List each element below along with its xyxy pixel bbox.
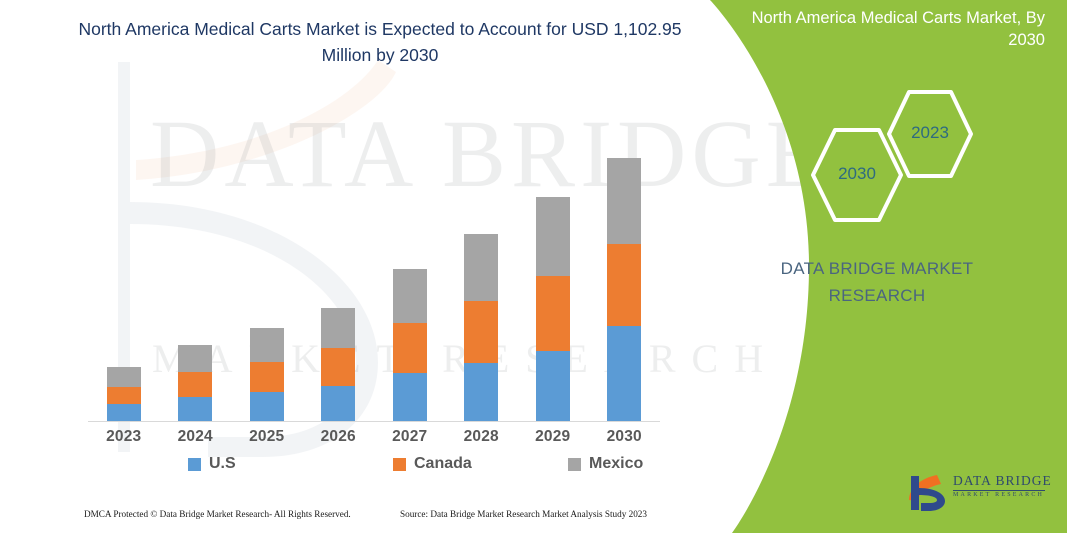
- chart-plot-area: [88, 120, 668, 422]
- chart-legend: U.SCanadaMexico: [88, 455, 668, 481]
- bar-segment: [250, 328, 284, 362]
- bar-segment: [107, 367, 141, 387]
- legend-swatch-icon: [393, 458, 406, 471]
- bar-segment: [321, 348, 355, 386]
- brand-name-line1: DATA BRIDGE MARKET: [727, 255, 1027, 282]
- bar-segment: [393, 323, 427, 373]
- footer-copyright: DMCA Protected © Data Bridge Market Rese…: [84, 509, 351, 519]
- legend-item[interactable]: Mexico: [568, 455, 643, 473]
- legend-label: Canada: [414, 455, 472, 473]
- legend-swatch-icon: [188, 458, 201, 471]
- bar-segment: [321, 386, 355, 421]
- bar-segment: [393, 269, 427, 323]
- hexagon-label-2030: 2030: [809, 164, 905, 184]
- x-axis-label: 2027: [374, 428, 446, 446]
- x-axis-line: [88, 421, 660, 422]
- brand-name-line2: RESEARCH: [727, 282, 1027, 309]
- bar-segment: [178, 372, 212, 397]
- company-logo: DATA BRIDGE MARKET RESEARCH: [905, 470, 1055, 516]
- x-axis-label: 2029: [517, 428, 589, 446]
- bar-column: [159, 345, 231, 421]
- bar-column: [374, 269, 446, 421]
- bar-segment: [321, 308, 355, 348]
- x-axis-label: 2030: [588, 428, 660, 446]
- bar-segment: [393, 373, 427, 421]
- hexagon-badge-2030: 2030: [809, 126, 905, 224]
- legend-label: Mexico: [589, 455, 643, 473]
- bar-segment: [607, 244, 641, 326]
- bar-column: [588, 158, 660, 421]
- legend-label: U.S: [209, 455, 236, 473]
- brand-name: DATA BRIDGE MARKET RESEARCH: [727, 255, 1027, 309]
- brand-panel: North America Medical Carts Market, By 2…: [687, 0, 1067, 533]
- bar-segment: [250, 392, 284, 421]
- bar-segment: [178, 397, 212, 421]
- hexagon-badges: 2023 2030: [747, 88, 1047, 208]
- bar-column: [231, 328, 303, 421]
- data-bridge-logo-icon: [905, 470, 949, 514]
- footer-source: Source: Data Bridge Market Research Mark…: [400, 509, 647, 519]
- bar-segment: [464, 363, 498, 421]
- bar-column: [302, 308, 374, 421]
- legend-swatch-icon: [568, 458, 581, 471]
- bar-column: [517, 197, 589, 421]
- legend-item[interactable]: U.S: [188, 455, 236, 473]
- bar-segment: [536, 351, 570, 421]
- chart-title: North America Medical Carts Market is Ex…: [70, 16, 690, 69]
- bar-segment: [178, 345, 212, 372]
- bar-column: [445, 234, 517, 421]
- logo-wordmark: DATA BRIDGE MARKET RESEARCH: [953, 473, 1052, 498]
- legend-item[interactable]: Canada: [393, 455, 472, 473]
- logo-divider: [953, 490, 1045, 491]
- x-axis-label: 2025: [231, 428, 303, 446]
- footer: DMCA Protected © Data Bridge Market Rese…: [0, 505, 700, 529]
- bar-group: [88, 121, 660, 421]
- bar-segment: [107, 404, 141, 421]
- bar-segment: [536, 197, 570, 276]
- x-axis-label: 2023: [88, 428, 160, 446]
- bar-segment: [536, 276, 570, 351]
- logo-name: DATA BRIDGE: [953, 473, 1052, 489]
- infographic-canvas: DATA BRIDGE MARKET RESEARCH North Americ…: [0, 0, 1067, 533]
- bar-segment: [607, 158, 641, 244]
- logo-tagline: MARKET RESEARCH: [953, 492, 1052, 498]
- bar-segment: [250, 362, 284, 392]
- x-axis-label: 2026: [302, 428, 374, 446]
- bar-column: [88, 367, 160, 421]
- x-axis-labels: 20232024202520262027202820292030: [88, 428, 660, 454]
- bar-segment: [607, 326, 641, 421]
- bar-segment: [464, 301, 498, 363]
- x-axis-label: 2024: [159, 428, 231, 446]
- bar-segment: [464, 234, 498, 301]
- brand-panel-title: North America Medical Carts Market, By 2…: [715, 8, 1045, 52]
- bar-segment: [107, 387, 141, 404]
- x-axis-label: 2028: [445, 428, 517, 446]
